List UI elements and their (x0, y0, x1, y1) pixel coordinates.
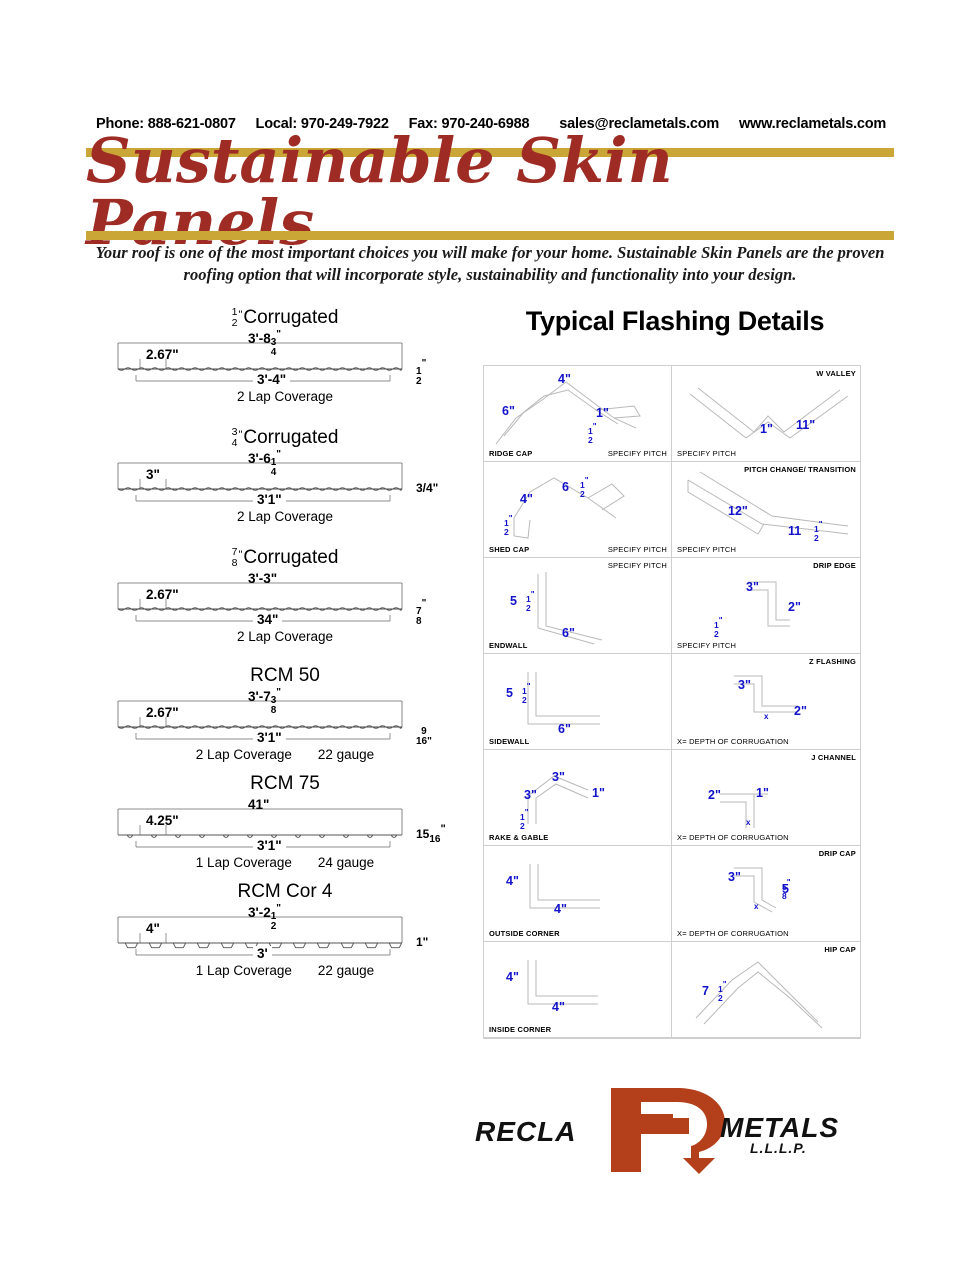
dimension-label: 6 (562, 480, 569, 494)
logo-word-recla: RECLA (475, 1116, 576, 1148)
dimension-label: 5 (510, 594, 517, 608)
logo-word-lllp: L.L.L.P. (750, 1140, 807, 1156)
profile-top-width-label: 41" (248, 797, 269, 812)
dimension-label: 3" (524, 788, 537, 802)
profile-coverage-width-label: 3'1" (253, 838, 286, 853)
panel-profile: 12" Corrugated2.67"3'-834"3'-4"12"2 Lap … (100, 306, 470, 404)
flashing-cell: 512"6"ENDWALLSPECIFY PITCH (484, 558, 672, 654)
flashing-cell: 12"1112"PITCH CHANGE/ TRANSITIONSPECIFY … (672, 462, 860, 558)
profile-gauge: 22 gauge (318, 963, 374, 978)
flashing-cell: 3"2"xZ FLASHINGX= DEPTH OF CORRUGATION (672, 654, 860, 750)
profile-pitch-label: 4.25" (146, 813, 179, 828)
dimension-label: 1" (592, 786, 605, 800)
profile-coverage-width-label: 3'1" (253, 492, 286, 507)
dimension-label: 1" (596, 406, 609, 420)
dimension-label: 3" (738, 678, 751, 692)
profile-pitch-label: 2.67" (146, 347, 179, 362)
profile-caption: 2 Lap Coverage (100, 629, 470, 644)
profile-lap-coverage: 2 Lap Coverage (237, 629, 333, 644)
dimension-label: x (754, 902, 758, 911)
profile-title: RCM 50 (100, 666, 470, 685)
dimension-label: 5 (506, 686, 513, 700)
flashing-cell: 4"4"OUTSIDE CORNER (484, 846, 672, 942)
profile-title: RCM Cor 4 (100, 882, 470, 901)
profile-top-width-label: 3'-3" (248, 571, 277, 586)
recla-metals-logo: RECLA METALS L.L.L.P. (450, 1078, 880, 1178)
dimension-label: 4" (520, 492, 533, 506)
dimension-label: 1" (756, 786, 769, 800)
dimension-label: 6" (558, 722, 571, 736)
flashing-cell-title: DRIP EDGE (813, 561, 856, 570)
dimension-label: 12" (814, 520, 823, 542)
flashing-cell: 4"4"INSIDE CORNER (484, 942, 672, 1038)
profile-drawing: 2.67"3'-738"3'1"916" (100, 687, 470, 747)
profile-top-width-label: 3'-834" (248, 331, 281, 356)
flashing-cell-note: X= DEPTH OF CORRUGATION (677, 737, 789, 746)
profile-gauge: 22 gauge (318, 747, 374, 762)
flashing-cell-note: SPECIFY PITCH (608, 561, 667, 570)
profile-title: 12" Corrugated (100, 306, 470, 327)
profile-lap-coverage: 2 Lap Coverage (237, 509, 333, 524)
flashing-cell-title: OUTSIDE CORNER (489, 929, 560, 938)
dimension-label: 12" (580, 476, 589, 498)
profile-pitch-label: 2.67" (146, 705, 179, 720)
profile-drawing: 4.25"41"3'1"1516" (100, 795, 470, 855)
profile-drawing: 4"3'-212"3'1" (100, 903, 470, 963)
flashing-cell: 4"612"12"SHED CAPSPECIFY PITCH (484, 462, 672, 558)
flashing-cell-title: ENDWALL (489, 641, 527, 650)
flashing-cell-note: X= DEPTH OF CORRUGATION (677, 833, 789, 842)
profile-caption: 1 Lap Coverage24 gauge (100, 855, 470, 870)
dimension-label: 4" (558, 372, 571, 386)
dimension-label: 11" (796, 418, 815, 432)
dimension-label: 11 (788, 524, 801, 538)
dimension-label: 2" (788, 600, 801, 614)
profile-coverage-width-label: 3' (253, 946, 272, 961)
flashing-cell: 712"HIP CAP (672, 942, 860, 1038)
dimension-label: 2" (794, 704, 807, 718)
flashing-cell-title: SIDEWALL (489, 737, 529, 746)
flashing-cell-title: INSIDE CORNER (489, 1025, 551, 1034)
profile-thickness-label: 78" (416, 601, 426, 625)
profile-top-width-label: 3'-614" (248, 451, 281, 476)
profile-top-width-label: 3'-212" (248, 905, 281, 930)
profile-title: RCM 75 (100, 774, 470, 793)
profile-gauge: 24 gauge (318, 855, 374, 870)
flashing-cell-title: RIDGE CAP (489, 449, 532, 458)
dimension-label: x (764, 712, 768, 721)
profile-lap-coverage: 2 Lap Coverage (237, 389, 333, 404)
profile-caption: 2 Lap Coverage (100, 389, 470, 404)
page-title: Sustainable Skin Panels (86, 153, 894, 231)
dimension-label: x (746, 818, 750, 827)
dimension-label: 4" (552, 1000, 565, 1014)
profile-thickness-label: 916" (416, 721, 432, 745)
dimension-label: 4" (506, 874, 519, 888)
flashing-cell-title: W VALLEY (816, 369, 856, 378)
flashing-cell-note: SPECIFY PITCH (608, 545, 667, 554)
dimension-label: 12" (504, 514, 513, 536)
dimension-label: 12" (520, 808, 529, 830)
profile-coverage-width-label: 3'-4" (253, 372, 290, 387)
panel-profile: RCM 502.67"3'-738"3'1"916"2 Lap Coverage… (100, 666, 470, 762)
panel-profile: 34" Corrugated3"3'-614"3'1"3/4"2 Lap Cov… (100, 426, 470, 524)
profile-title: 78" Corrugated (100, 546, 470, 567)
flashing-cell-note: SPECIFY PITCH (608, 449, 667, 458)
flashing-cell: 6"4"1"12"RIDGE CAPSPECIFY PITCH (484, 366, 672, 462)
dimension-label: 7 (702, 984, 709, 998)
flashing-cell-title: HIP CAP (824, 945, 856, 954)
profile-caption: 1 Lap Coverage22 gauge (100, 963, 470, 978)
flashing-cell-title: RAKE & GABLE (489, 833, 549, 842)
flashing-cell-note: SPECIFY PITCH (677, 545, 736, 554)
profile-thickness-label: 3/4" (416, 481, 438, 495)
flashing-cell: 3"558"xDRIP CAPX= DEPTH OF CORRUGATION (672, 846, 860, 942)
dimension-label: 12" (522, 682, 531, 704)
profile-caption: 2 Lap Coverage (100, 509, 470, 524)
dimension-label: 2" (708, 788, 721, 802)
panel-profiles-list: 12" Corrugated2.67"3'-834"3'-4"12"2 Lap … (100, 306, 470, 990)
dimension-label: 58" (782, 878, 791, 900)
profile-thickness-label: 1516" (416, 827, 446, 841)
flashing-cell: 1"11"W VALLEYSPECIFY PITCH (672, 366, 860, 462)
panel-profile: 78" Corrugated2.67"3'-3"34"78"2 Lap Cove… (100, 546, 470, 644)
profile-coverage-width-label: 3'1" (253, 730, 286, 745)
flashing-cell: 3"3"1"12"RAKE & GABLE (484, 750, 672, 846)
profile-thickness-label: 12" (416, 361, 426, 385)
flashing-cell: 3"2"12"DRIP EDGESPECIFY PITCH (672, 558, 860, 654)
profile-lap-coverage: 1 Lap Coverage (196, 855, 292, 870)
dimension-label: 4" (554, 902, 567, 916)
flashing-cell-title: Z FLASHING (809, 657, 856, 666)
profile-thickness-label: 1" (416, 935, 428, 949)
panel-profile: RCM 754.25"41"3'1"1516"1 Lap Coverage24 … (100, 774, 470, 870)
profile-pitch-label: 4" (146, 921, 160, 936)
flashing-cell-note: SPECIFY PITCH (677, 449, 736, 458)
panel-profile: RCM Cor 44"3'-212"3'1"1 Lap Coverage22 g… (100, 882, 470, 978)
flashing-cell-title: DRIP CAP (819, 849, 856, 858)
dimension-label: 12" (714, 616, 723, 638)
profile-drawing: 2.67"3'-834"3'-4"12" (100, 329, 470, 389)
flashing-cell-title: PITCH CHANGE/ TRANSITION (744, 465, 856, 474)
flashing-details-heading: Typical Flashing Details (480, 306, 870, 337)
dimension-label: 12" (588, 422, 597, 444)
flashing-cell-title: J CHANNEL (811, 753, 856, 762)
flashing-cell: 512"6"SIDEWALL (484, 654, 672, 750)
profile-top-width-label: 3'-738" (248, 689, 281, 714)
flashing-details-grid: 6"4"1"12"RIDGE CAPSPECIFY PITCH1"11"W VA… (483, 365, 861, 1039)
flashing-cell: 2"1"xJ CHANNELX= DEPTH OF CORRUGATION (672, 750, 860, 846)
dimension-label: 12" (728, 504, 748, 518)
profile-title: 34" Corrugated (100, 426, 470, 447)
profile-lap-coverage: 1 Lap Coverage (196, 963, 292, 978)
flashing-cell-title: SHED CAP (489, 545, 529, 554)
dimension-label: 12" (718, 980, 727, 1002)
dimension-label: 6" (562, 626, 575, 640)
dimension-label: 3" (552, 770, 565, 784)
dimension-label: 1" (760, 422, 773, 436)
dimension-label: 3" (746, 580, 759, 594)
profile-drawing: 3"3'-614"3'1"3/4" (100, 449, 470, 509)
dimension-label: 12" (526, 590, 535, 612)
dimension-label: 4" (506, 970, 519, 984)
flashing-cell-note: X= DEPTH OF CORRUGATION (677, 929, 789, 938)
profile-lap-coverage: 2 Lap Coverage (196, 747, 292, 762)
profile-pitch-label: 3" (146, 467, 160, 482)
profile-pitch-label: 2.67" (146, 587, 179, 602)
flashing-cell-note: SPECIFY PITCH (677, 641, 736, 650)
profile-coverage-width-label: 34" (253, 612, 282, 627)
dimension-label: 6" (502, 404, 515, 418)
page-subtitle: Your roof is one of the most important c… (90, 242, 890, 287)
logo-r-mark-icon (603, 1084, 738, 1181)
profile-caption: 2 Lap Coverage22 gauge (100, 747, 470, 762)
profile-drawing: 2.67"3'-3"34"78" (100, 569, 470, 629)
gold-divider-bottom (86, 231, 894, 240)
dimension-label: 3" (728, 870, 741, 884)
